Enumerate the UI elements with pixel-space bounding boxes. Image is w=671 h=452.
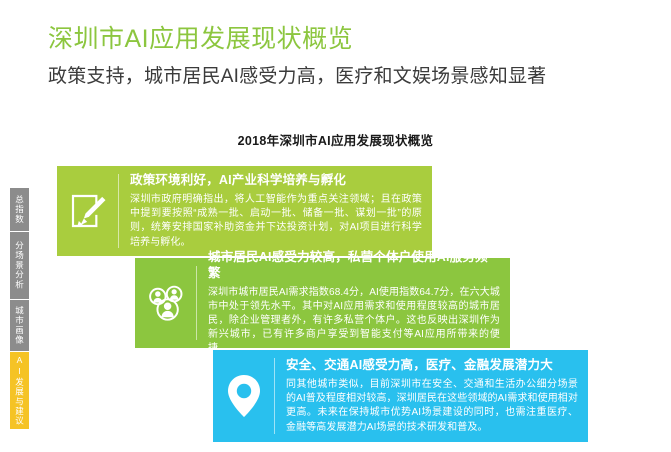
- card-body: 同其他城市类似，目前深圳市在安全、交通和生活办公细分场景的AI普及程度相对较高，…: [286, 378, 578, 435]
- page-header: 深圳市AI应用发展现状概览 政策支持，城市居民AI感受力高，医疗和文娱场景感知显…: [48, 24, 648, 90]
- card-body: 深圳市政府明确指出，将人工智能作为重点关注领域；且在政策中提到要按照“成熟一批、…: [130, 193, 422, 250]
- card-icon-container: [213, 350, 275, 442]
- chart-caption: 2018年深圳市AI应用发展现状概览: [0, 130, 671, 149]
- card-title: 城市居民AI感受力较高，私营个体户使用AI服务频繁: [208, 250, 500, 281]
- sidebar-item-label: 城市画像: [15, 306, 25, 345]
- card-title: 政策环境利好，AI产业科学培养与孵化: [130, 173, 422, 189]
- note-pencil-icon: [68, 191, 108, 231]
- sidebar-tab-strip: 总指数 分场景分析 城市画像 AI发展与建议: [10, 188, 29, 429]
- info-card-scenarios: 安全、交通AI感受力高，医疗、金融发展潜力大 同其他城市类似，目前深圳市在安全、…: [213, 350, 588, 442]
- card-icon-container: [135, 258, 197, 348]
- card-body: 深圳市城市居民AI需求指数68.4分，AI使用指数64.7分，在六大城市中处于领…: [208, 286, 500, 357]
- sidebar-item-label: AI发展与建议: [15, 355, 25, 426]
- card-text-container: 城市居民AI感受力较高，私营个体户使用AI服务频繁 深圳市城市居民AI需求指数6…: [197, 258, 510, 348]
- sidebar-item-ai-development[interactable]: AI发展与建议: [10, 352, 29, 429]
- people-group-icon: [144, 283, 188, 323]
- sidebar-item-label: 分场景分析: [15, 241, 25, 290]
- sidebar-item-scenario-analysis[interactable]: 分场景分析: [10, 232, 29, 300]
- sidebar-item-label: 总指数: [15, 195, 25, 224]
- card-text-container: 安全、交通AI感受力高，医疗、金融发展潜力大 同其他城市类似，目前深圳市在安全、…: [275, 350, 588, 442]
- page-title: 深圳市AI应用发展现状概览: [48, 24, 648, 55]
- card-title: 安全、交通AI感受力高，医疗、金融发展潜力大: [286, 358, 578, 374]
- info-card-residents: 城市居民AI感受力较高，私营个体户使用AI服务频繁 深圳市城市居民AI需求指数6…: [135, 258, 510, 348]
- location-pin-icon: [225, 373, 263, 419]
- card-icon-container: [57, 166, 119, 256]
- info-card-policy: 政策环境利好，AI产业科学培养与孵化 深圳市政府明确指出，将人工智能作为重点关注…: [57, 166, 432, 256]
- sidebar-item-city-profile[interactable]: 城市画像: [10, 300, 29, 352]
- page-subtitle: 政策支持，城市居民AI感受力高，医疗和文娱场景感知显著: [48, 65, 648, 90]
- card-text-container: 政策环境利好，AI产业科学培养与孵化 深圳市政府明确指出，将人工智能作为重点关注…: [119, 166, 432, 256]
- sidebar-item-total-index[interactable]: 总指数: [10, 188, 29, 232]
